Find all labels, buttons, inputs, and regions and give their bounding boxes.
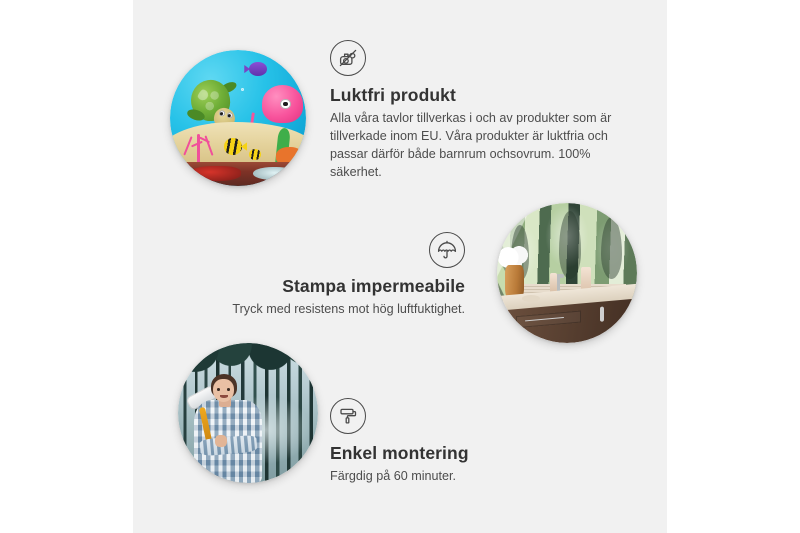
feature-heading: Luktfri produkt — [330, 85, 630, 106]
face — [213, 379, 234, 402]
soap-bottle — [550, 273, 557, 293]
feature-block-odourless: Luktfri produkt Alla våra tavlor tillver… — [330, 40, 630, 182]
purple-fish-icon — [249, 62, 267, 76]
feature-heading: Stampa impermeabile — [190, 276, 465, 297]
hand — [215, 435, 226, 447]
underwater-cartoon-photo — [170, 50, 306, 186]
leaf-shape — [559, 211, 581, 278]
feature-block-easy-install: Enkel montering Färgdig på 60 minuter. — [330, 398, 620, 486]
no-fragrance-icon — [330, 40, 630, 76]
feature-heading: Enkel montering — [330, 443, 620, 464]
umbrella-icon — [190, 232, 465, 268]
painter-person — [189, 374, 276, 483]
coral-icon — [181, 122, 222, 163]
promo-infographic: Luktfri produkt Alla våra tavlor tillver… — [0, 0, 800, 533]
feature-body: Färgdig på 60 minuter. — [330, 468, 620, 486]
bottom-photo-strip — [170, 162, 306, 186]
leaf-shape — [601, 217, 622, 279]
paint-roller-icon — [330, 398, 620, 434]
feature-block-waterproof: Stampa impermeabile Tryck med resistens … — [190, 232, 465, 319]
feature-body: Tryck med resistens mot hög luftfuktighe… — [190, 301, 465, 319]
bathroom-interior-photo — [497, 203, 637, 343]
feature-body: Alla våra tavlor tillverkas i och av pro… — [330, 110, 618, 182]
yellow-fish-icon — [224, 138, 242, 154]
painter-in-forest-photo — [178, 343, 318, 483]
